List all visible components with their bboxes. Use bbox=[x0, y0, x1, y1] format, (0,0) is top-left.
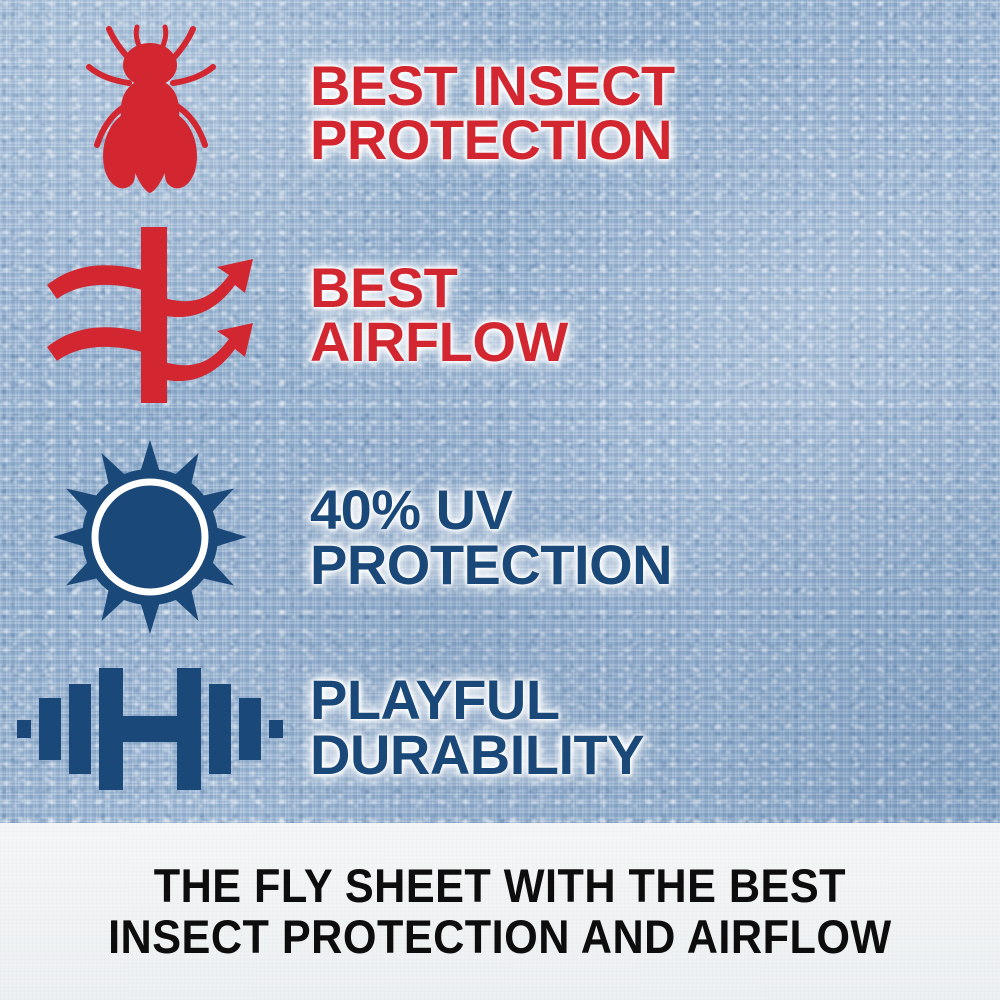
feature-row-airflow: BEST AIRFLOW bbox=[0, 215, 568, 415]
feature-text-cell: BEST AIRFLOW bbox=[300, 261, 568, 370]
caption-headline: THE FLY SHEET WITH THE BEST INSECT PROTE… bbox=[108, 861, 892, 962]
feature-label-uv-protection: 40% UV PROTECTION bbox=[310, 483, 672, 592]
feature-list: BEST INSECT PROTECTION BEST AIR bbox=[0, 0, 1000, 823]
feature-text-cell: PLAYFUL DURABILITY bbox=[300, 673, 644, 782]
feature-label-durability: PLAYFUL DURABILITY bbox=[310, 673, 644, 782]
feature-row-uv-protection: 40% UV PROTECTION bbox=[0, 435, 672, 640]
dumbbell-icon bbox=[15, 658, 285, 798]
fly-icon bbox=[75, 21, 225, 206]
feature-icon-cell bbox=[0, 21, 300, 206]
product-infographic: BEST INSECT PROTECTION BEST AIR bbox=[0, 0, 1000, 1000]
feature-label-airflow: BEST AIRFLOW bbox=[310, 261, 568, 370]
feature-row-durability: PLAYFUL DURABILITY bbox=[0, 645, 644, 810]
feature-icon-cell bbox=[0, 658, 300, 798]
feature-icon-cell bbox=[0, 440, 300, 635]
feature-text-cell: BEST INSECT PROTECTION bbox=[300, 59, 675, 168]
caption-band: THE FLY SHEET WITH THE BEST INSECT PROTE… bbox=[0, 823, 1000, 1000]
feature-icon-cell bbox=[0, 223, 300, 408]
feature-row-insect-protection: BEST INSECT PROTECTION bbox=[0, 18, 675, 208]
feature-text-cell: 40% UV PROTECTION bbox=[300, 483, 672, 592]
sun-uv-icon bbox=[50, 440, 250, 635]
feature-label-insect-protection: BEST INSECT PROTECTION bbox=[310, 59, 675, 168]
airflow-arrows-icon bbox=[35, 223, 265, 408]
